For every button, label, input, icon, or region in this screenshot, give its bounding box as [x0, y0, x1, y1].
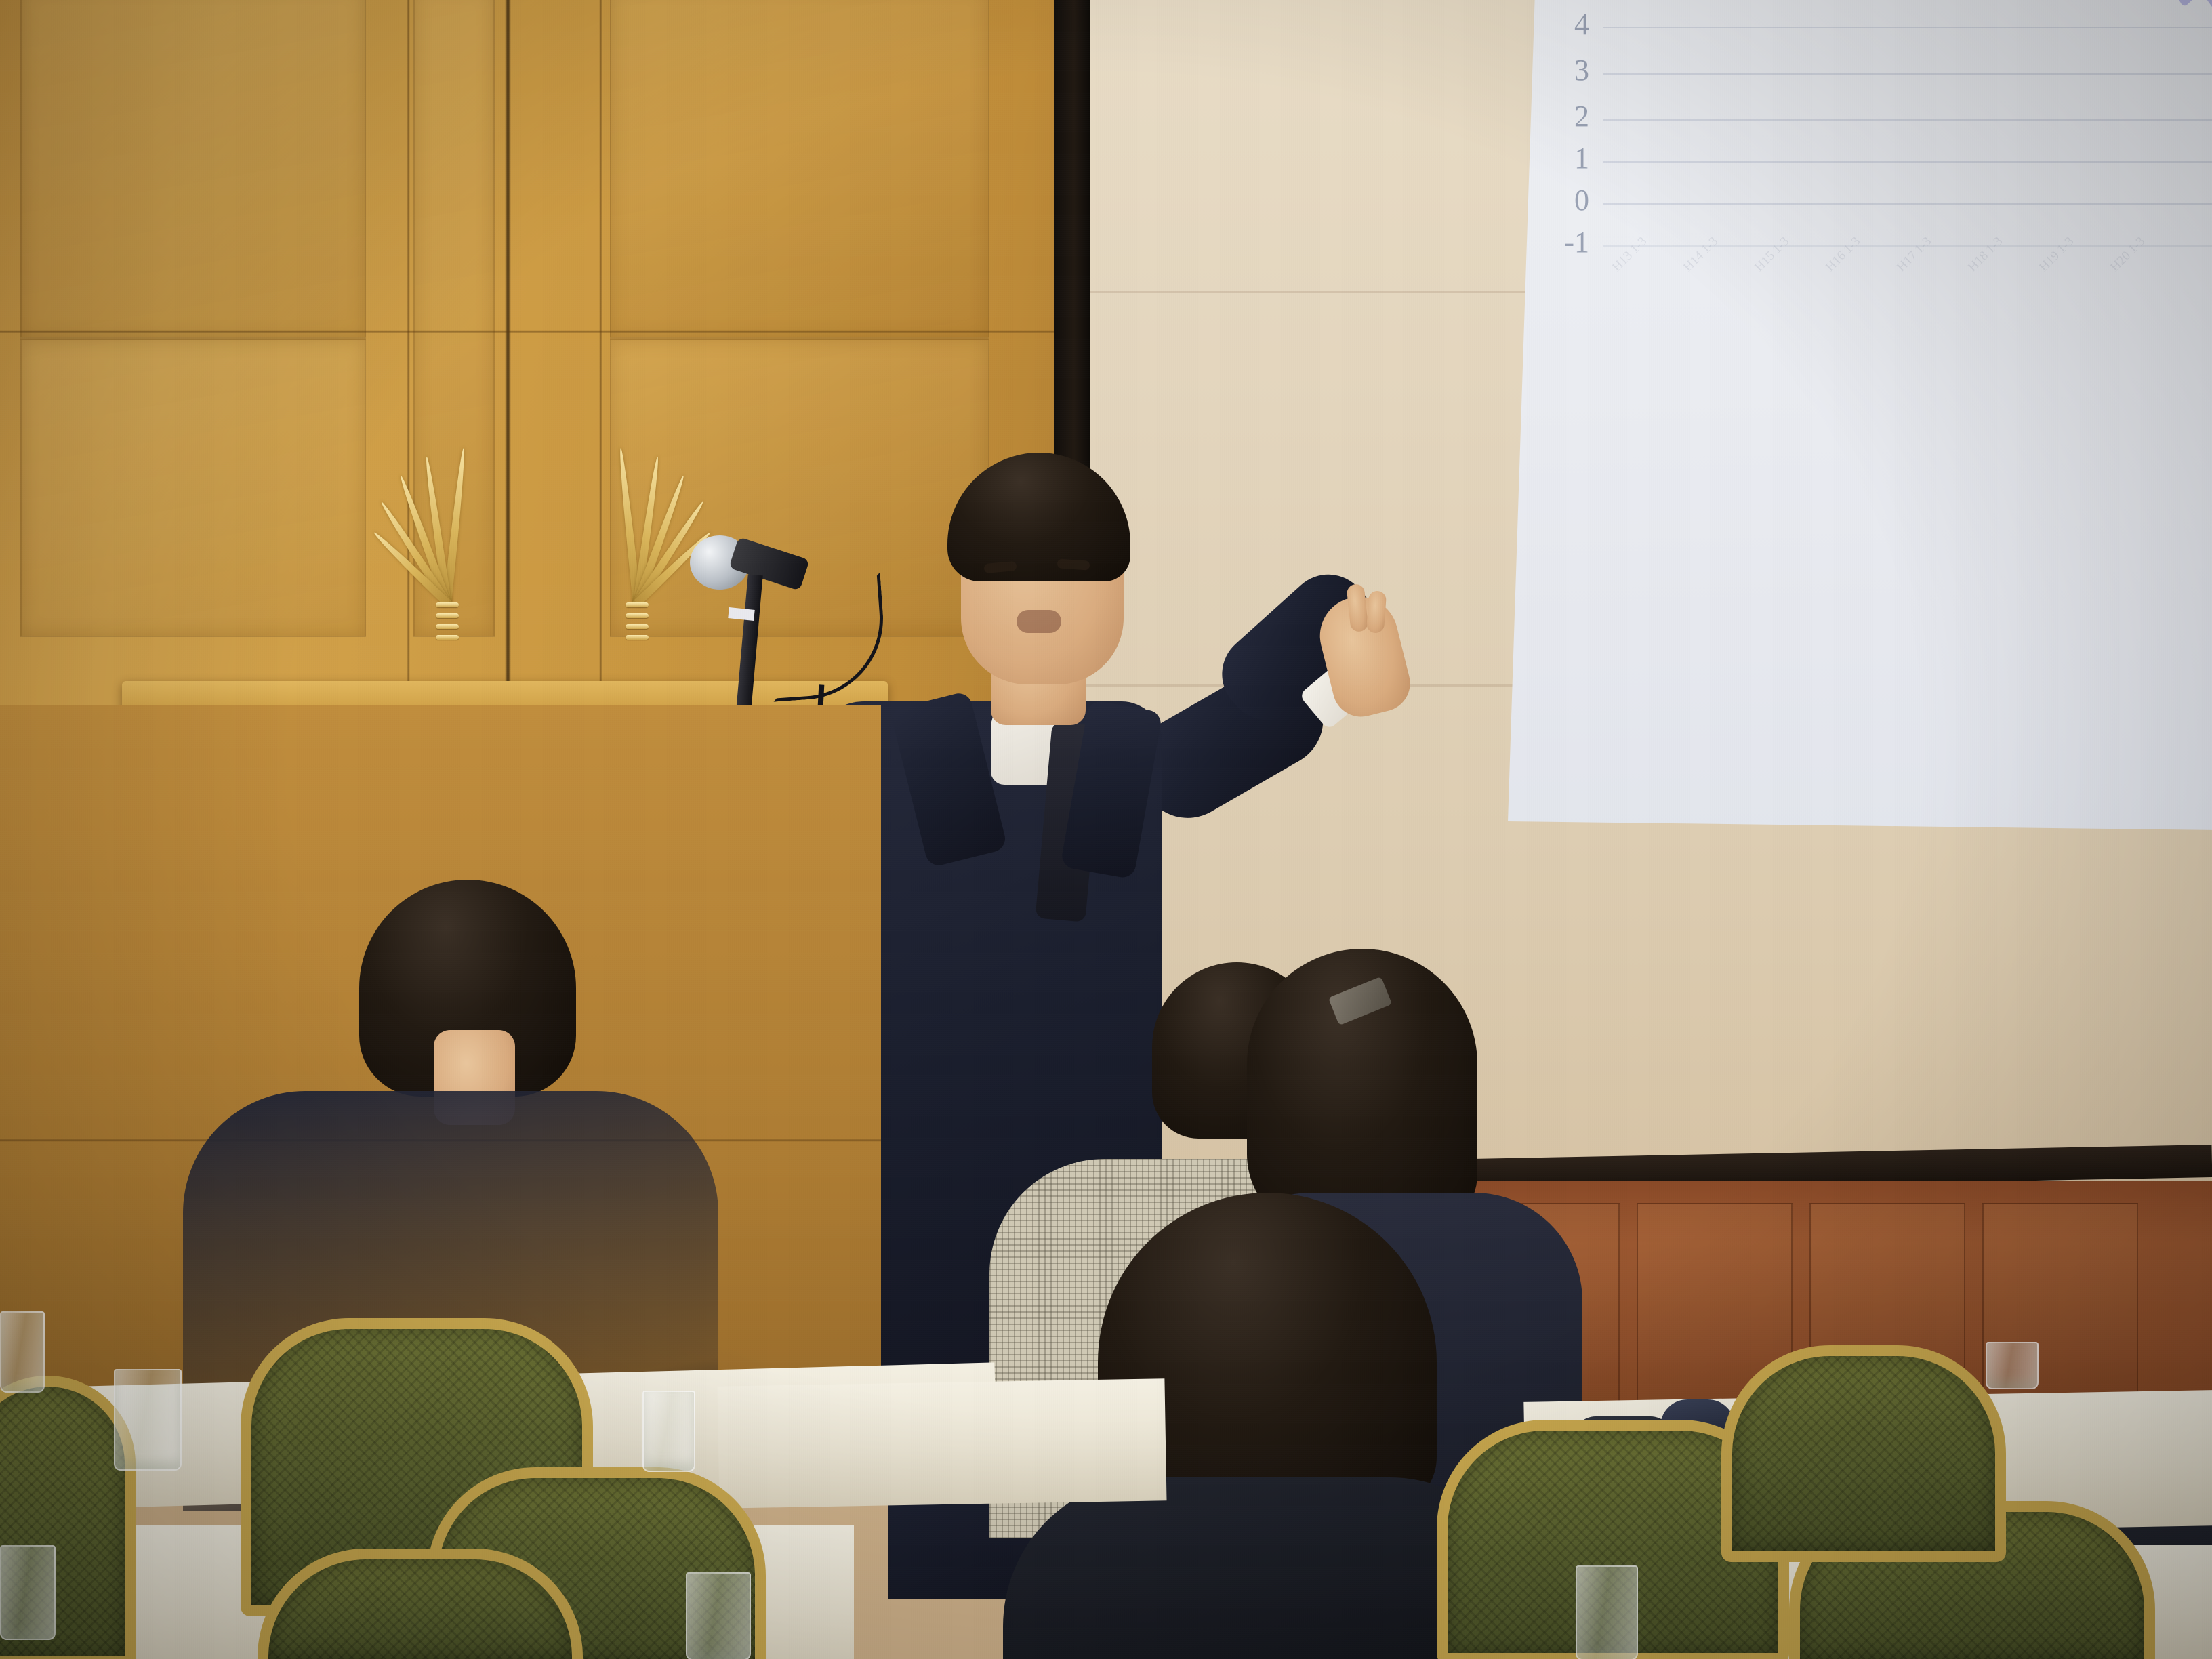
chair-7: [1721, 1345, 2006, 1562]
door-panel-3: [610, 0, 989, 339]
door-panel-1: [20, 0, 366, 339]
presenter-mouth: [1017, 610, 1061, 633]
presenter-finger-2: [1366, 590, 1387, 634]
water-glass-5: [686, 1572, 751, 1659]
water-glass-6: [1576, 1565, 1638, 1659]
water-glass-1: [0, 1311, 45, 1393]
water-glass-2: [114, 1369, 182, 1471]
water-glass-3: [0, 1545, 56, 1640]
conference-photo-scene: 4 3 2 1 0 -1 H13 1-3 H14 1-3 H15 1-3 H16…: [0, 0, 2212, 1659]
door-panel-2: [20, 339, 366, 637]
water-glass-4: [642, 1391, 695, 1472]
table-center: [717, 1378, 1166, 1508]
door-rail-seam: [0, 330, 1057, 333]
gold-fan-ornament-right: [596, 407, 678, 603]
gold-fan-ornament-left: [407, 407, 488, 603]
water-glass-7: [1986, 1342, 2039, 1389]
chart-line-series-1: [1508, 0, 2212, 271]
door-center-gap: [505, 0, 511, 705]
projection-screen: 4 3 2 1 0 -1 H13 1-3 H14 1-3 H15 1-3 H16…: [1508, 0, 2212, 830]
